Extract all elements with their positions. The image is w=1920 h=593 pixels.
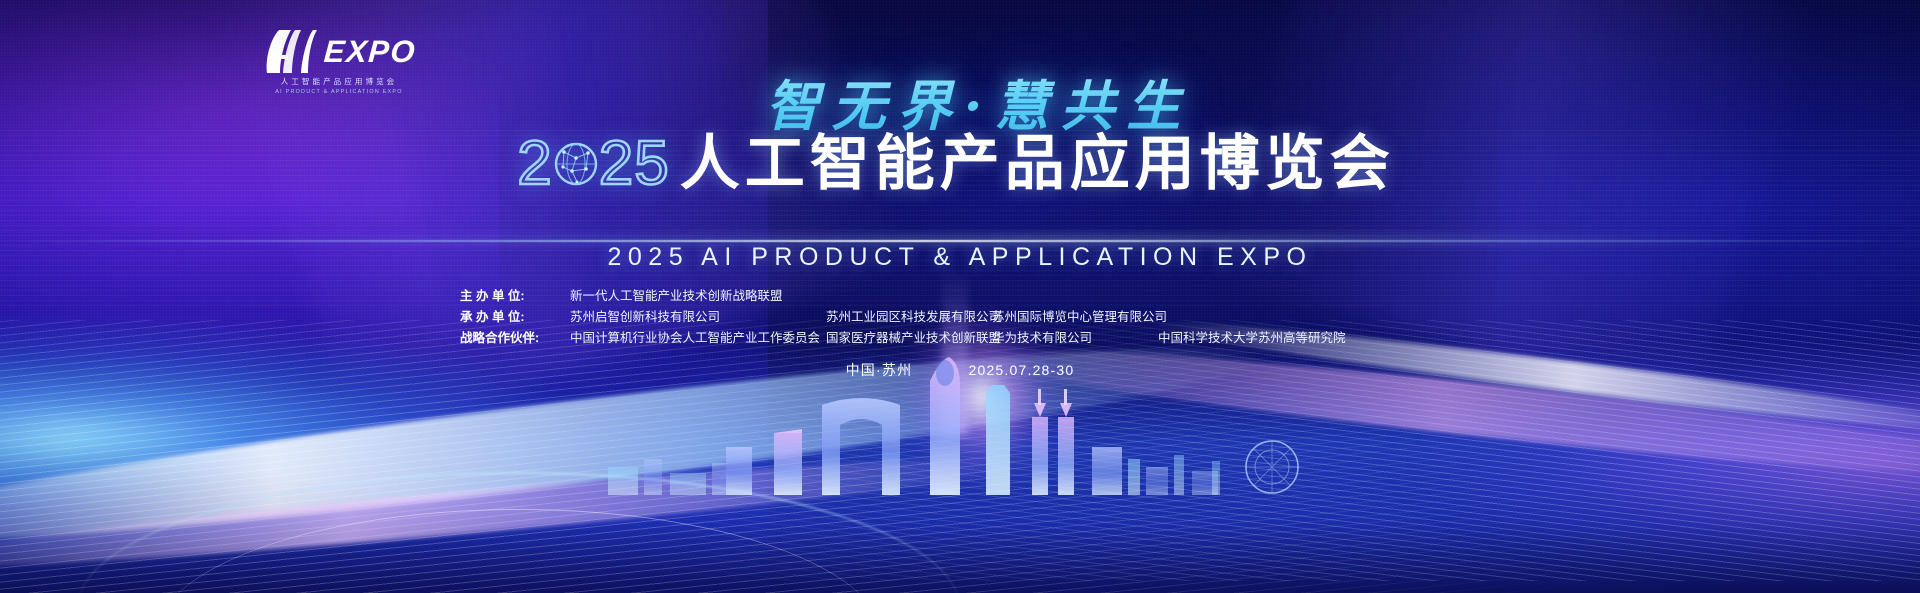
main-subtitle-en: 2025 AI PRODUCT & APPLICATION EXPO [0, 243, 1920, 272]
organizer-value-undertaker-2: 苏州工业园区科技发展有限公司 [826, 307, 992, 328]
year-digit-5: 5 [634, 133, 669, 195]
organizer-label-undertaker: 承 办 单 位: [460, 307, 570, 328]
organizer-value-undertaker-1: 苏州启智创新科技有限公司 [570, 307, 826, 328]
organizer-value-partner-2: 国家医疗器械产业技术创新联盟 [826, 328, 992, 349]
event-meta: 中国·苏州 2025.07.28-30 [0, 360, 1920, 380]
year-digit-2a: 2 [517, 133, 552, 195]
organizers-block: 主 办 单 位: 新一代人工智能产业技术创新战略联盟 承 办 单 位: 苏州启智… [0, 286, 1920, 349]
event-location: 中国·苏州 [846, 362, 913, 378]
event-dates: 2025.07.28-30 [968, 362, 1074, 378]
expo-banner: EXPO 人工智能产品应用博览会 AI PRODUCT & APPLICATIO… [0, 0, 1920, 593]
organizer-value-partner-4: 中国科学技术大学苏州高等研究院 [1158, 328, 1346, 349]
organizer-label-partners: 战略合作伙伴: [460, 328, 570, 349]
year-logo: 2 [517, 133, 669, 195]
year-digit-2b: 2 [599, 133, 634, 195]
organizer-value-partner-3: 华为技术有限公司 [992, 328, 1158, 349]
organizer-value-undertaker-3: 苏州国际博览中心管理有限公司 [992, 307, 1167, 328]
organizer-label-host: 主 办 单 位: [460, 286, 570, 307]
organizer-value-partner-1: 中国计算机行业协会人工智能产业工作委员会 [570, 328, 826, 349]
organizer-value-host-1: 新一代人工智能产业技术创新战略联盟 [570, 286, 783, 307]
organizer-row-host: 主 办 单 位: 新一代人工智能产业技术创新战略联盟 [460, 286, 1460, 307]
globe-network-icon [550, 138, 602, 190]
organizer-row-partners: 战略合作伙伴: 中国计算机行业协会人工智能产业工作委员会 国家医疗器械产业技术创… [460, 328, 1460, 349]
background-horizon-glow-line [0, 240, 1920, 242]
main-title-cn: 人工智能产品应用博览会 [680, 134, 1395, 194]
organizer-row-undertaker: 承 办 单 位: 苏州启智创新科技有限公司 苏州工业园区科技发展有限公司 苏州国… [460, 307, 1460, 328]
main-title: 2 [0, 133, 1916, 195]
